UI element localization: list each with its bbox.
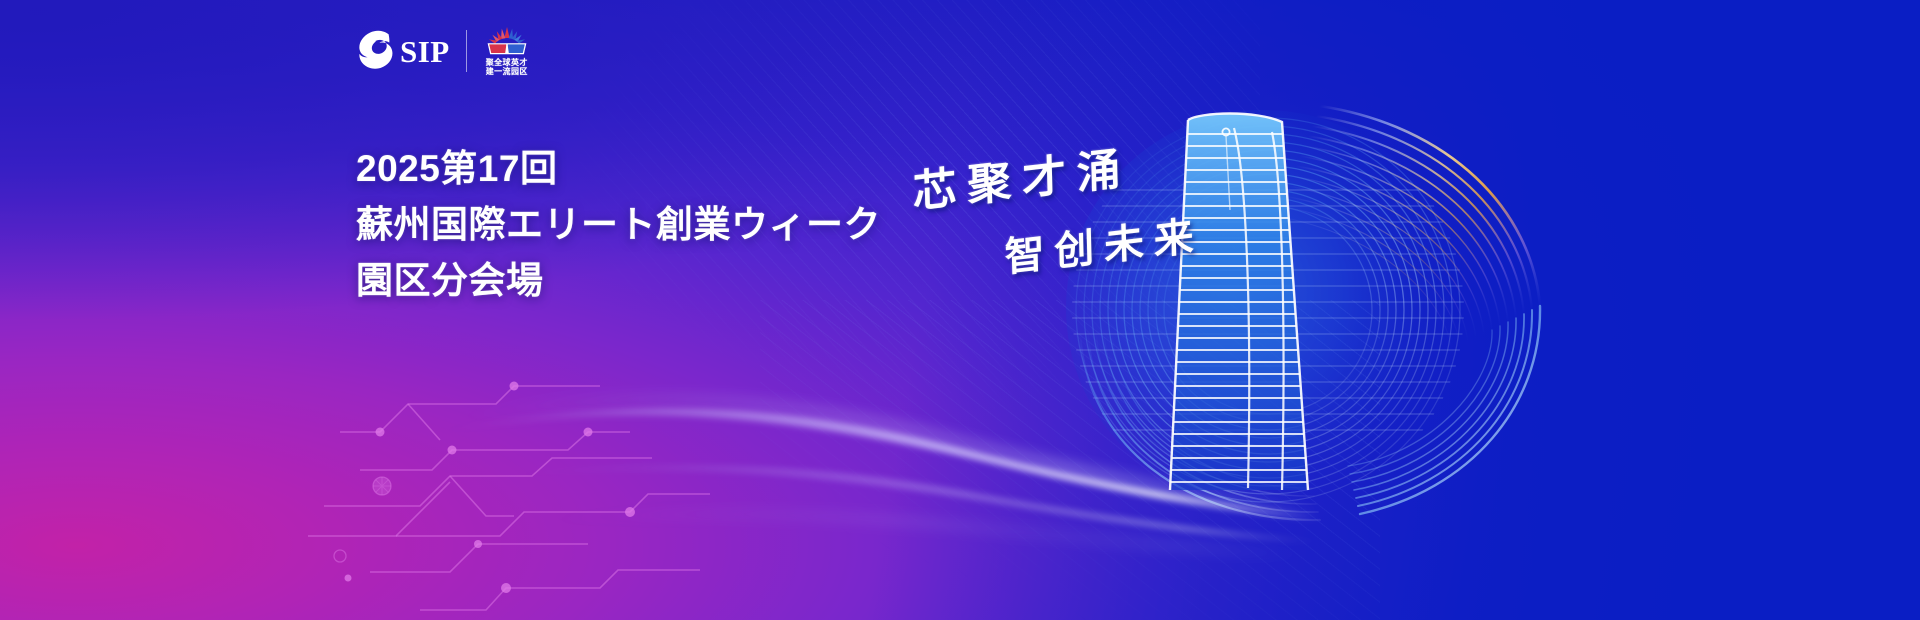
event-banner: SIP (0, 0, 1920, 620)
background-vignette (0, 0, 1920, 620)
